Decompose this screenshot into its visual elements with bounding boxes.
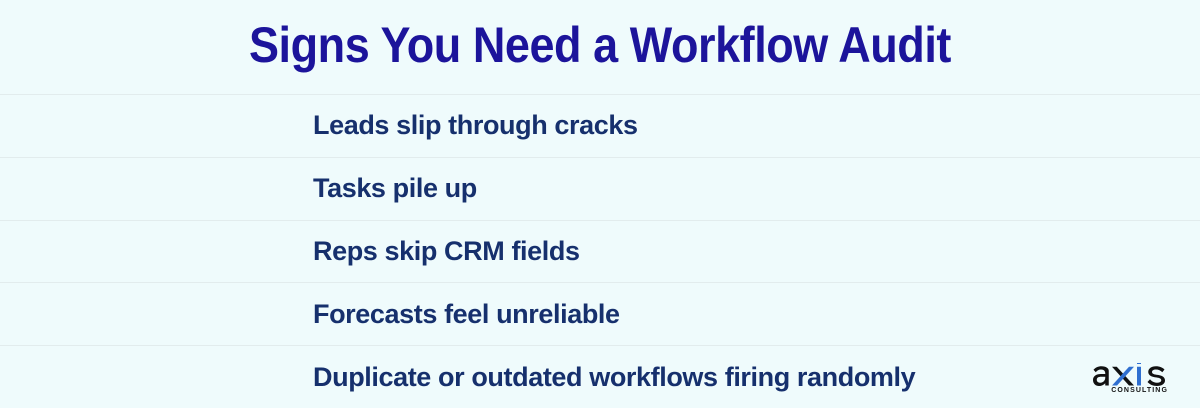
signs-list: Leads slip through cracks Tasks pile up … (0, 95, 1200, 408)
title-band: Signs You Need a Workflow Audit (0, 0, 1200, 95)
list-item-label: Tasks pile up (0, 173, 477, 204)
list-item: Forecasts feel unreliable (0, 283, 1200, 346)
list-item: Tasks pile up (0, 158, 1200, 221)
list-item-label: Forecasts feel unreliable (0, 299, 620, 330)
list-item: Duplicate or outdated workflows firing r… (0, 346, 1200, 408)
list-item-label: Reps skip CRM fields (0, 236, 580, 267)
logo-tagline: CONSULTING (1111, 387, 1170, 394)
page-title: Signs You Need a Workflow Audit (249, 20, 951, 74)
list-item: Reps skip CRM fields (0, 221, 1200, 284)
list-item-label: Duplicate or outdated workflows firing r… (0, 362, 915, 393)
axis-consulting-logo: CONSULTING (1088, 363, 1170, 394)
list-item: Leads slip through cracks (0, 95, 1200, 158)
axis-wordmark-icon (1093, 363, 1165, 386)
list-item-label: Leads slip through cracks (0, 110, 638, 141)
infographic-card: Signs You Need a Workflow Audit Leads sl… (0, 0, 1200, 408)
